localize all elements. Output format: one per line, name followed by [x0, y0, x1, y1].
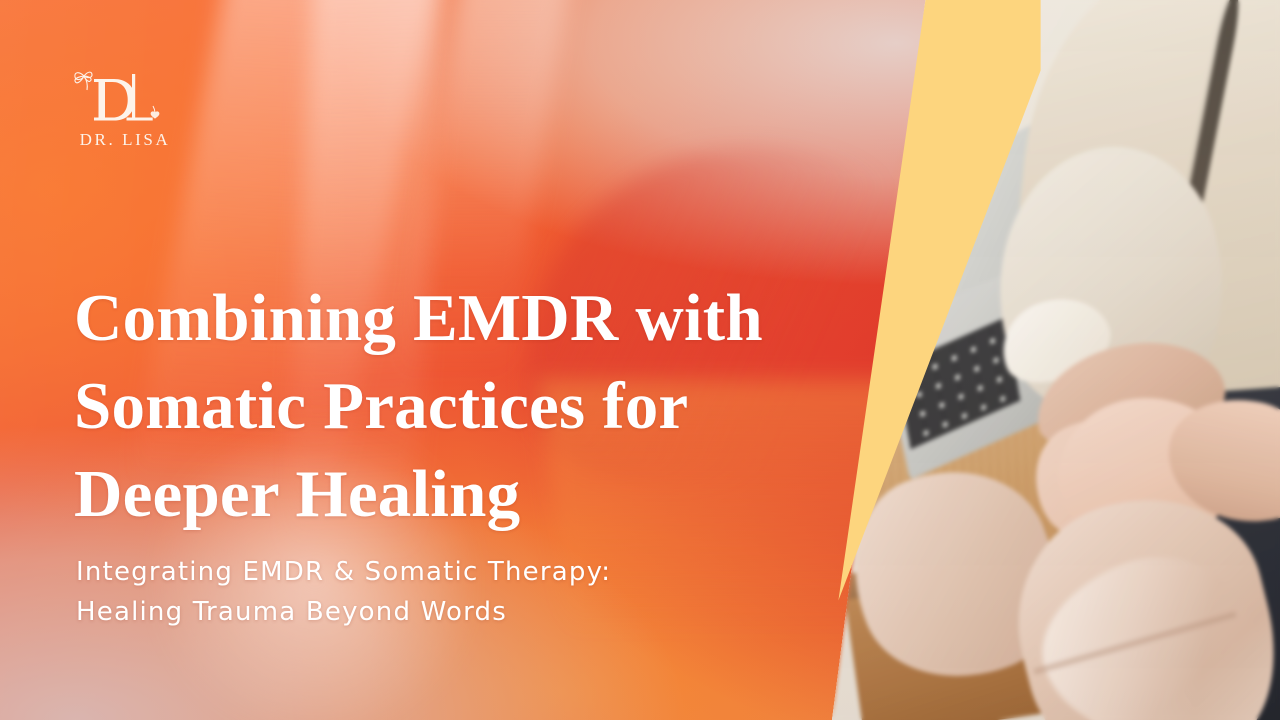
brand-name: DR. LISA — [66, 130, 184, 150]
page-subtitle: Integrating EMDR & Somatic Therapy: Heal… — [76, 552, 836, 632]
headline-line-2: Somatic Practices for — [74, 362, 864, 450]
page-title: Combining EMDR with Somatic Practices fo… — [74, 274, 864, 538]
letter-d — [94, 79, 135, 121]
subtitle-line-2: Healing Trauma Beyond Words — [76, 592, 836, 632]
subtitle-line-1: Integrating EMDR & Somatic Therapy: — [76, 552, 836, 592]
social-media-banner: DR. LISA Combining EMDR with Somatic Pra… — [0, 0, 1280, 720]
headline-line-3: Deeper Healing — [74, 450, 864, 538]
dl-monogram-icon — [66, 62, 184, 128]
headline-line-1: Combining EMDR with — [74, 274, 864, 362]
brand-logo[interactable]: DR. LISA — [66, 62, 184, 162]
banner-content: DR. LISA Combining EMDR with Somatic Pra… — [0, 0, 1280, 720]
butterfly-icon — [75, 72, 92, 90]
